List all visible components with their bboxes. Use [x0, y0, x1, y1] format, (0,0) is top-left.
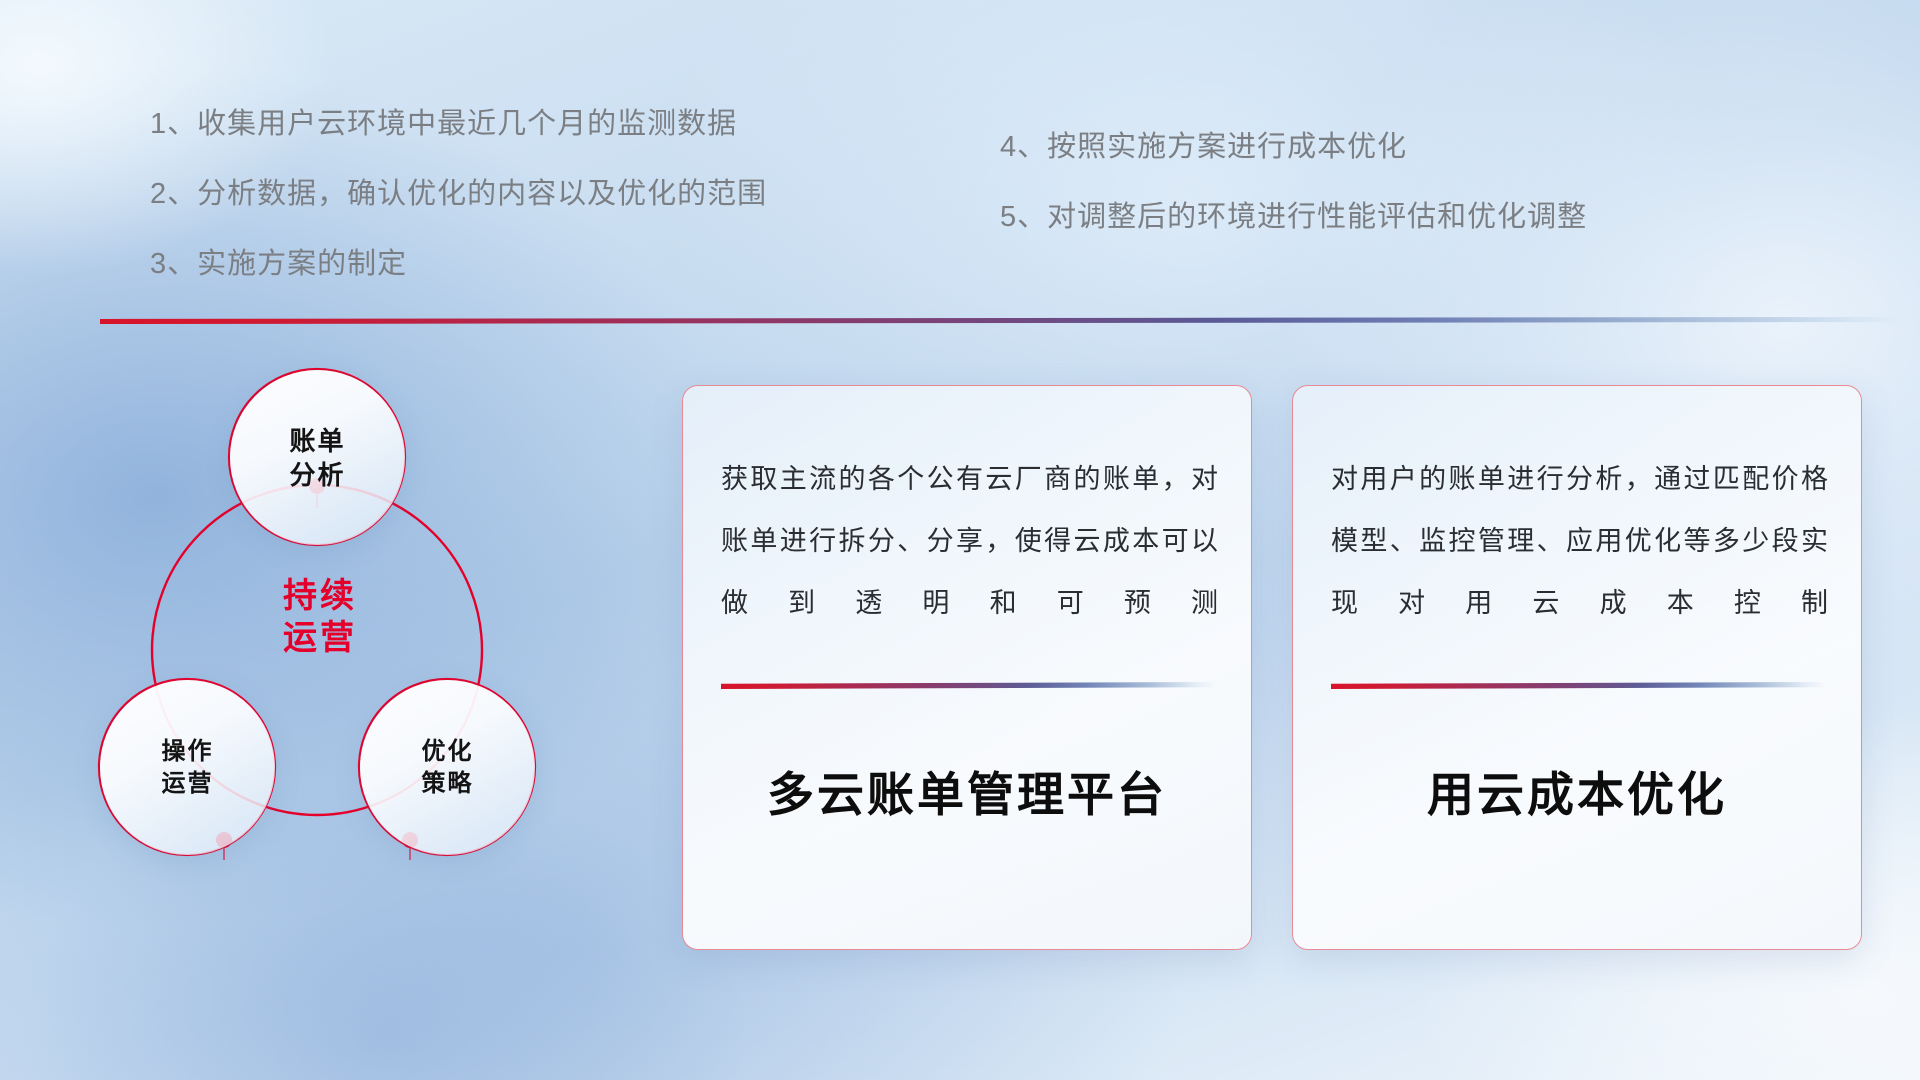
diagram-node-optimization-strategy-line1: 优化: [422, 736, 474, 768]
bullet-lists: 1、收集用户云环境中最近几个月的监测数据 2、分析数据，确认优化的内容以及优化的…: [0, 0, 1920, 300]
bullet-item-3: 3、实施方案的制定: [150, 237, 767, 291]
diagram-node-operations-line2: 运营: [162, 768, 214, 800]
card-multicloud-billing-platform[interactable]: 获取主流的各个公有云厂商的账单，对账单进行拆分、分享，使得云成本可以做到透明和可…: [682, 385, 1252, 950]
diagram-center-label: 持续 运营: [250, 575, 390, 659]
card-1-title: 多云账单管理平台: [683, 756, 1251, 825]
diagram-node-operations-line1: 操作: [162, 736, 214, 768]
diagram-node-bill-analysis[interactable]: 账单 分析: [230, 370, 405, 545]
bullet-column-left: 1、收集用户云环境中最近几个月的监测数据 2、分析数据，确认优化的内容以及优化的…: [150, 97, 767, 307]
card-2-body: 对用户的账单进行分析，通过匹配价格模型、监控管理、应用优化等多少段实现对用云成本…: [1331, 448, 1829, 634]
diagram-center-label-line1: 持续: [250, 575, 390, 617]
bullet-item-2: 2、分析数据，确认优化的内容以及优化的范围: [150, 167, 767, 221]
card-cloud-cost-optimization[interactable]: 对用户的账单进行分析，通过匹配价格模型、监控管理、应用优化等多少段实现对用云成本…: [1292, 385, 1862, 950]
diagram-node-bill-analysis-line2: 分析: [289, 458, 345, 492]
bullet-item-5: 5、对调整后的环境进行性能评估和优化调整: [1000, 190, 1587, 244]
card-2-title: 用云成本优化: [1293, 756, 1861, 825]
diagram-node-optimization-strategy-line2: 策略: [422, 768, 474, 800]
diagram-node-optimization-strategy[interactable]: 优化 策略: [360, 680, 535, 855]
card-2-rule: [1331, 682, 1827, 689]
diagram-node-operations[interactable]: 操作 运营: [100, 680, 275, 855]
bullet-item-4: 4、按照实施方案进行成本优化: [1000, 120, 1587, 174]
diagram-node-bill-analysis-line1: 账单: [289, 424, 345, 458]
card-1-body: 获取主流的各个公有云厂商的账单，对账单进行拆分、分享，使得云成本可以做到透明和可…: [721, 448, 1219, 634]
bullet-column-right: 4、按照实施方案进行成本优化 5、对调整后的环境进行性能评估和优化调整: [1000, 120, 1587, 260]
continuous-operation-diagram: 账单 分析 操作 运营 优化 策略 持续 运营: [95, 350, 645, 950]
card-1-rule: [721, 682, 1217, 689]
diagram-center-label-line2: 运营: [250, 617, 390, 659]
bullet-item-1: 1、收集用户云环境中最近几个月的监测数据: [150, 97, 767, 151]
